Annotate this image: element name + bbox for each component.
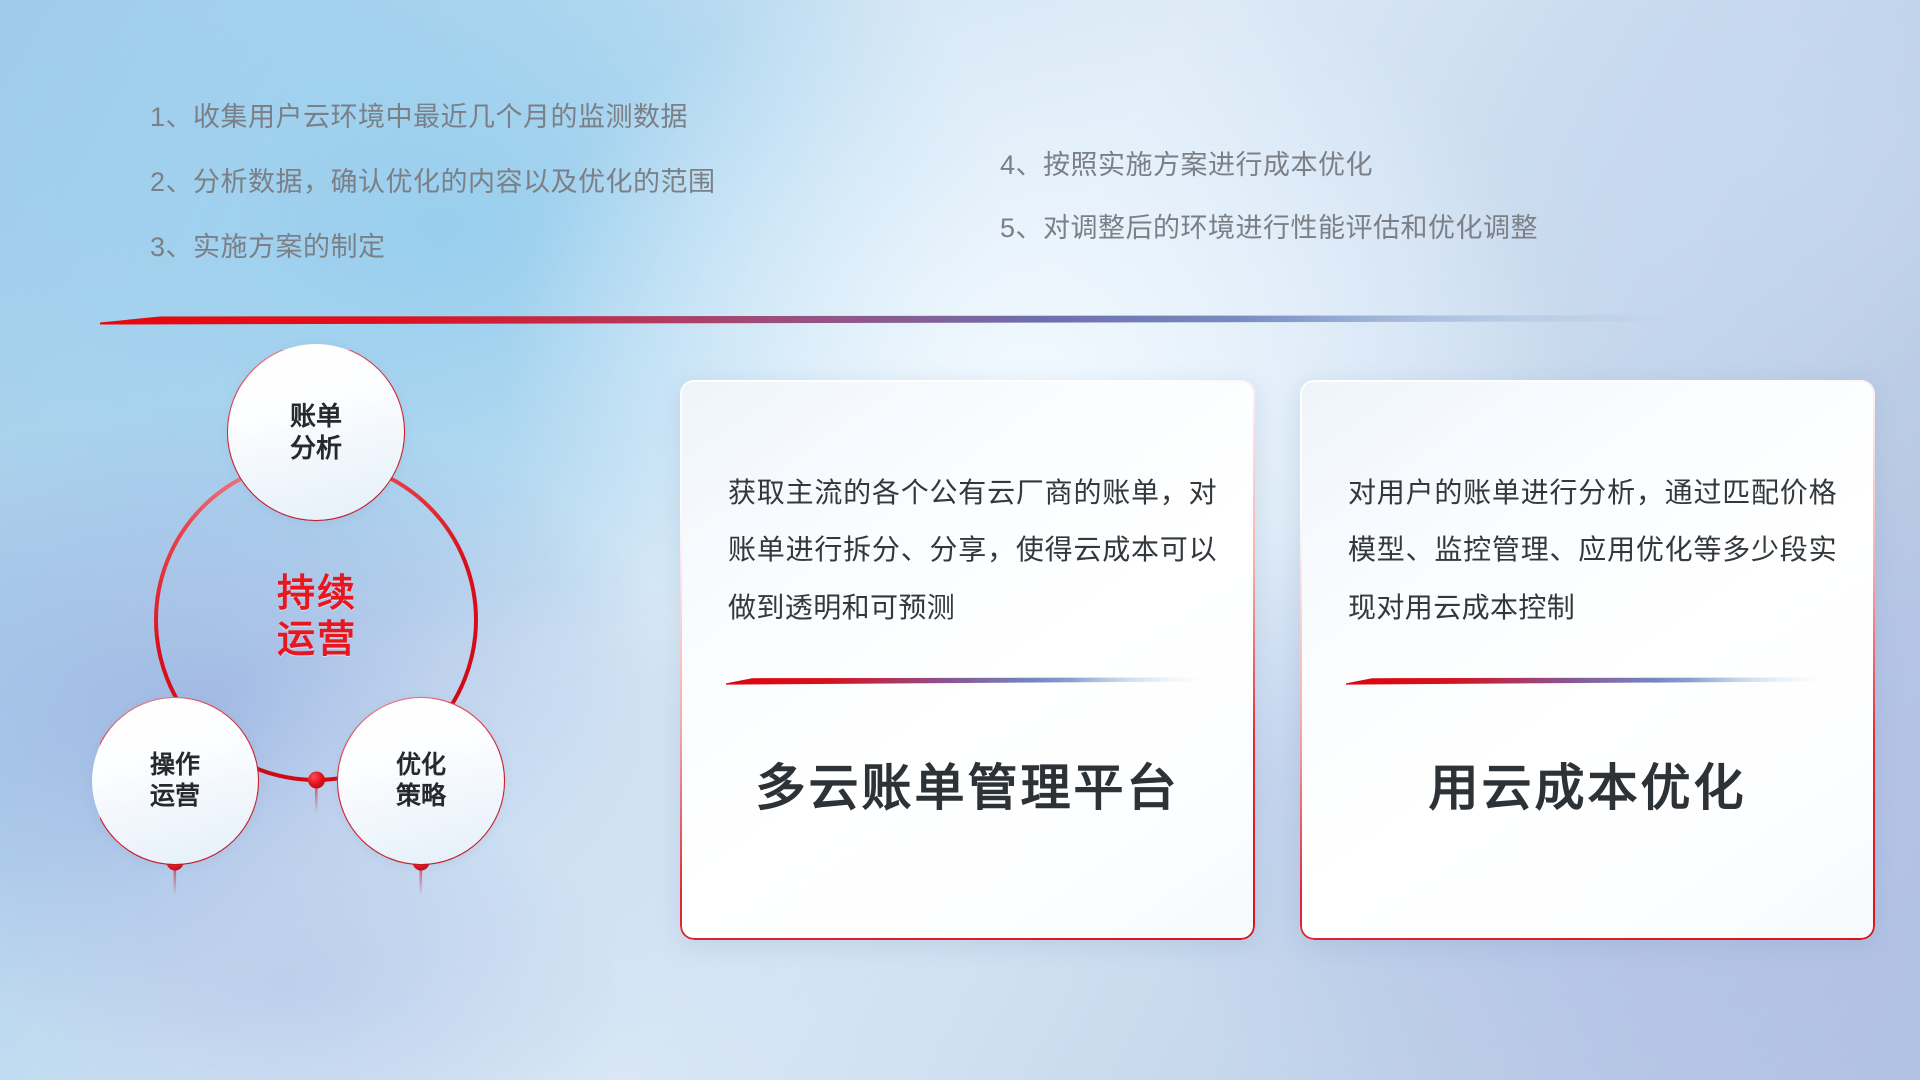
bubble-label-line1: 优化 [396, 750, 446, 781]
center-label-line2: 运营 [277, 617, 357, 663]
step-item: 4、按照实施方案进行成本优化 [1000, 152, 1538, 179]
card-body-text: 对用户的账单进行分析，通过匹配价格模型、监控管理、应用优化等多少段实现对用云成本… [1348, 464, 1837, 636]
bubble-label-line2: 策略 [396, 781, 446, 812]
diagram-bubble-optimization-strategy[interactable]: 优化 策略 [338, 698, 504, 864]
diagram-bubble-bill-analysis[interactable]: 账单 分析 [228, 344, 404, 520]
diagram-center-label: 持续 运营 [222, 562, 412, 672]
header-divider [100, 312, 1720, 326]
center-label-line1: 持续 [277, 571, 357, 617]
card-divider [1346, 672, 1826, 681]
steps-list-left: 1、收集用户云环境中最近几个月的监测数据 2、分析数据，确认优化的内容以及优化的… [150, 104, 716, 299]
bubble-label-line1: 账单 [290, 400, 342, 432]
continuous-operations-diagram: 账单 分析 操作 运营 优化 策略 持续 运营 [100, 350, 660, 950]
diagram-bubble-operations[interactable]: 操作 运营 [92, 698, 258, 864]
card-title: 用云成本优化 [1300, 748, 1875, 820]
card-body-text: 获取主流的各个公有云厂商的账单，对账单进行拆分、分享，使得云成本可以做到透明和可… [728, 464, 1217, 636]
bubble-label-line2: 运营 [150, 781, 200, 812]
card-cloud-cost-optimization[interactable]: 对用户的账单进行分析，通过匹配价格模型、监控管理、应用优化等多少段实现对用云成本… [1300, 380, 1875, 940]
card-divider [726, 672, 1206, 681]
bubble-label-line1: 操作 [150, 750, 200, 781]
card-title: 多云账单管理平台 [680, 748, 1255, 820]
node-dot-top [308, 772, 325, 789]
step-item: 2、分析数据，确认优化的内容以及优化的范围 [150, 169, 716, 196]
step-item: 1、收集用户云环境中最近几个月的监测数据 [150, 104, 716, 131]
step-item: 3、实施方案的制定 [150, 234, 716, 261]
card-multi-cloud-billing-platform[interactable]: 获取主流的各个公有云厂商的账单，对账单进行拆分、分享，使得云成本可以做到透明和可… [680, 380, 1255, 940]
bubble-label-line2: 分析 [290, 432, 342, 464]
steps-list-right: 4、按照实施方案进行成本优化 5、对调整后的环境进行性能评估和优化调整 [1000, 152, 1538, 278]
step-item: 5、对调整后的环境进行性能评估和优化调整 [1000, 215, 1538, 242]
